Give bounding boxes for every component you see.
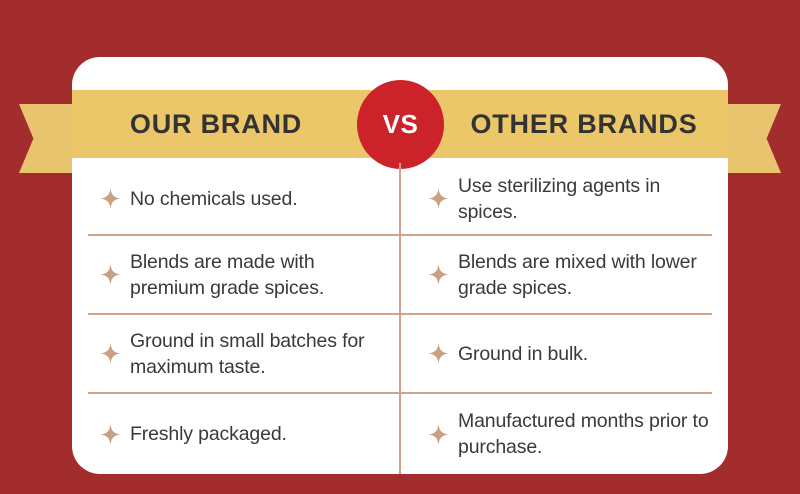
column-header-our-brand: OUR BRAND xyxy=(72,90,360,158)
list-item-label: Freshly packaged. xyxy=(130,421,287,447)
vs-badge-label: VS xyxy=(383,109,419,140)
list-item-label: Manufactured months prior to purchase. xyxy=(458,408,716,460)
column-header-other-brands: OTHER BRANDS xyxy=(440,90,728,158)
list-item: No chemicals used. xyxy=(100,163,392,234)
list-item-label: Use sterilizing agents in spices. xyxy=(458,173,716,225)
list-item: Manufactured months prior to purchase. xyxy=(428,394,720,474)
ribbon-tail-left xyxy=(19,104,79,173)
sparkle-icon xyxy=(100,188,121,209)
ribbon-tail-right xyxy=(721,104,781,173)
list-item: Ground in bulk. xyxy=(428,315,720,392)
sparkle-icon xyxy=(100,424,121,445)
list-item-label: Blends are made with premium grade spice… xyxy=(130,249,388,301)
sparkle-icon xyxy=(428,264,449,285)
column-divider xyxy=(399,163,401,474)
list-item-label: Blends are mixed with lower grade spices… xyxy=(458,249,716,301)
sparkle-icon xyxy=(428,343,449,364)
list-item: Blends are mixed with lower grade spices… xyxy=(428,236,720,313)
sparkle-icon xyxy=(428,424,449,445)
vs-badge: VS xyxy=(357,80,444,169)
list-item-label: Ground in small batches for maximum tast… xyxy=(130,328,388,380)
list-item-label: No chemicals used. xyxy=(130,186,297,212)
list-item-label: Ground in bulk. xyxy=(458,341,588,367)
list-item: Use sterilizing agents in spices. xyxy=(428,163,720,234)
sparkle-icon xyxy=(100,264,121,285)
list-item: Ground in small batches for maximum tast… xyxy=(100,315,392,392)
list-item: Freshly packaged. xyxy=(100,394,392,474)
list-item: Blends are made with premium grade spice… xyxy=(100,236,392,313)
sparkle-icon xyxy=(100,343,121,364)
comparison-infographic: OUR BRAND OTHER BRANDS VS No chemicals u… xyxy=(0,0,800,494)
sparkle-icon xyxy=(428,188,449,209)
